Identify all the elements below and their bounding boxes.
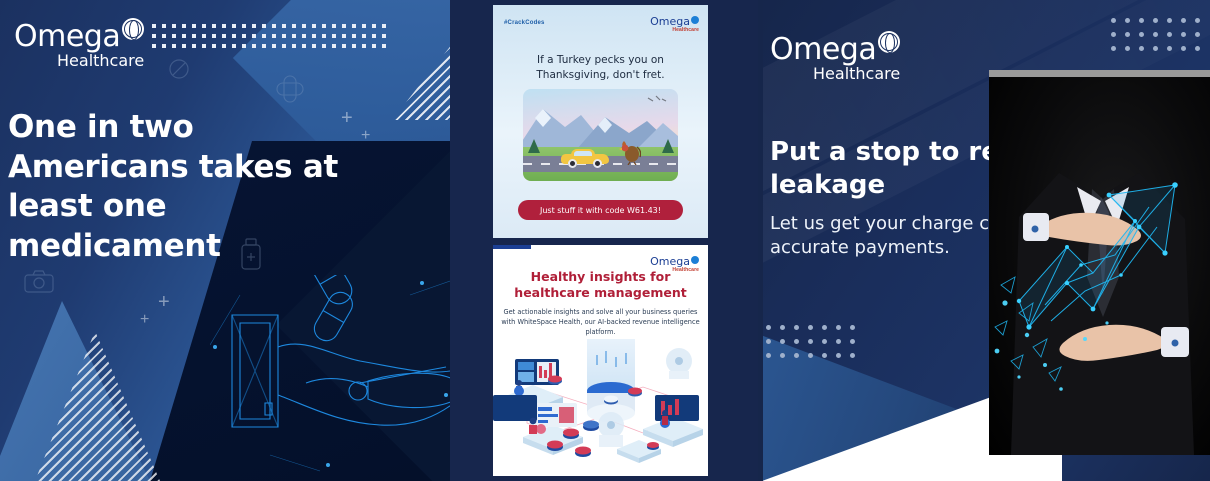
logo-omega-healthcare[interactable]: Omega Healthcare <box>14 22 144 69</box>
card-logo-wordmark: Omega <box>650 16 690 27</box>
decor-plus-mark: + <box>361 127 370 145</box>
globe-icon <box>691 256 699 264</box>
photo-top-bar <box>989 70 1210 77</box>
logo-tagline: Healthcare <box>813 66 900 82</box>
card-healthy-insights[interactable]: Omega Healthcare Healthy insights for he… <box>493 245 708 476</box>
card-title: Healthy insights for healthcare manageme… <box>501 269 700 302</box>
card-logo-omega: Omega Healthcare <box>650 16 699 33</box>
tree-icon <box>661 139 675 155</box>
decor-dot-grid-bottom <box>766 325 855 358</box>
card-subtitle: Get actionable insights and solve all yo… <box>500 307 701 338</box>
globe-icon <box>878 31 900 53</box>
left-headline: One in two Americans takes at least one … <box>8 108 348 267</box>
wireframe-hand-illustration <box>210 275 450 475</box>
camera-icon <box>24 270 54 294</box>
card-crack-codes[interactable]: #CrackCodes Omega Healthcare If a Turkey… <box>493 5 708 238</box>
card-accent-bar <box>493 245 531 249</box>
card-hashtag: #CrackCodes <box>504 20 545 26</box>
card-headline: If a Turkey pecks you on Thanksgiving, d… <box>505 53 696 83</box>
banner-middle: #CrackCodes Omega Healthcare If a Turkey… <box>450 0 758 481</box>
decor-dot-grid-top <box>1111 18 1200 51</box>
decor-plus-mark: + <box>158 291 170 314</box>
globe-icon <box>122 18 144 40</box>
decor-dot-grid <box>152 24 386 48</box>
banner-collection: + + + + Omega Healthcare One in two Amer… <box>0 0 1210 481</box>
bandage-cross-icon <box>275 74 305 104</box>
photo-businessman-arrow <box>989 70 1210 455</box>
banner-left: + + + + Omega Healthcare One in two Amer… <box>0 0 450 481</box>
decor-plus-mark: + <box>140 311 149 329</box>
card-logo-wordmark: Omega <box>650 256 690 267</box>
logo-wordmark: Omega <box>14 22 120 52</box>
decor-left-bar <box>758 0 763 481</box>
logo-omega-healthcare[interactable]: Omega Healthcare <box>770 35 900 82</box>
banner-right: Omega Healthcare Put a stop to revenue l… <box>758 0 1210 481</box>
card-cta-button[interactable]: Just stuff it with code W61.43! <box>518 200 683 220</box>
tree-icon <box>527 139 541 155</box>
car-graphic <box>561 150 609 168</box>
card-logo-tagline: Healthcare <box>650 28 699 33</box>
turkey-graphic <box>619 139 641 165</box>
motion-lines-icon <box>646 95 668 109</box>
logo-wordmark: Omega <box>770 35 876 65</box>
globe-icon <box>691 16 699 24</box>
card-illustration-isometric <box>493 337 708 468</box>
logo-tagline: Healthcare <box>57 53 144 69</box>
pill-tablet-icon <box>168 58 190 80</box>
card-illustration-road <box>523 89 678 181</box>
